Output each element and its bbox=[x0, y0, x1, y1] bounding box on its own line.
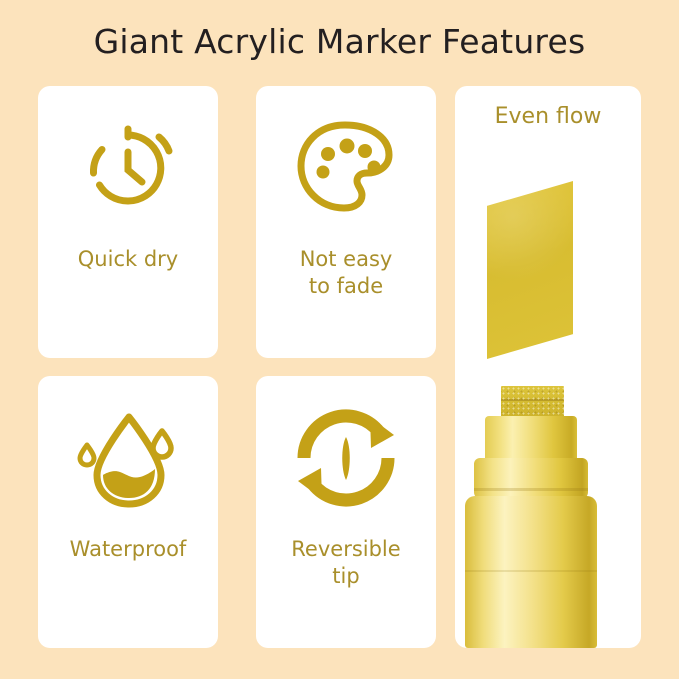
marker-nib-texture bbox=[501, 386, 564, 418]
water-drop-icon bbox=[73, 402, 183, 514]
feature-card-not-easy-to-fade[interactable]: Not easy to fade bbox=[256, 86, 436, 358]
ink-swatch-parallelogram bbox=[487, 181, 573, 359]
feature-label: Not easy to fade bbox=[266, 246, 426, 300]
feature-infographic: Giant Acrylic Marker Features Quick dry bbox=[0, 0, 679, 679]
feature-label: Quick dry bbox=[48, 246, 208, 273]
reverse-arrows-icon bbox=[291, 402, 401, 514]
feature-card-grid: Quick dry Not easy to fade bbox=[38, 86, 436, 648]
feature-label: Waterproof bbox=[48, 536, 208, 563]
feature-card-quick-dry[interactable]: Quick dry bbox=[38, 86, 218, 358]
feature-label: Reversible tip bbox=[266, 536, 426, 590]
showcase-title: Even flow bbox=[455, 104, 641, 129]
marker-collar bbox=[474, 458, 588, 500]
stopwatch-icon bbox=[73, 112, 183, 224]
page-title: Giant Acrylic Marker Features bbox=[0, 22, 679, 61]
feature-card-waterproof[interactable]: Waterproof bbox=[38, 376, 218, 648]
showcase-panel[interactable]: Even flow bbox=[455, 86, 641, 648]
paint-palette-icon bbox=[291, 112, 401, 224]
marker-photo bbox=[455, 378, 641, 648]
marker-barrel bbox=[465, 496, 597, 648]
feature-card-reversible-tip[interactable]: Reversible tip bbox=[256, 376, 436, 648]
marker-neck bbox=[485, 416, 577, 464]
